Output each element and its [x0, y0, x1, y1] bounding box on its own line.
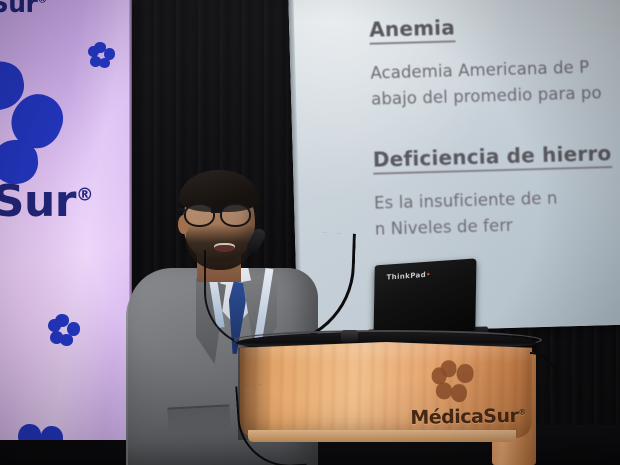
- banner-flower-logo-bottom: [16, 424, 64, 440]
- photo-scene: Anemia Academia Americana de P abajo del…: [0, 0, 620, 465]
- banner-wordmark-main: caSur®: [0, 176, 93, 227]
- lectern-flower-logo: [433, 360, 478, 405]
- slide-heading-deficiencia: Deficiencia de hierro: [373, 141, 612, 175]
- presenter-jacket-pocket: [167, 404, 230, 431]
- slide-body-iron-line1: Es la insuficiente de n: [374, 182, 620, 215]
- banner-flower-logo-small-top: [90, 42, 118, 70]
- presentation-slide: Anemia Academia Americana de P abajo del…: [369, 9, 620, 242]
- slide-heading-anemia: Anemia: [369, 15, 455, 44]
- slide-block-iron: Deficiencia de hierro Es la insuficiente…: [373, 138, 620, 241]
- thinkpad-logo: ThinkPad•: [386, 271, 431, 282]
- step-and-repeat-banner: icaSur® caSur®: [0, 0, 132, 440]
- banner-wordmark-top: icaSur®: [0, 0, 47, 18]
- lectern-branding: MédicaSur®: [403, 359, 524, 437]
- glasses-lens-right: [220, 203, 251, 227]
- microphone-mount: [341, 330, 358, 342]
- banner-flower-logo-large: [0, 62, 76, 182]
- glasses-bridge: [211, 210, 222, 213]
- lectern-brand-text: MédicaSur®: [410, 405, 526, 429]
- slide-body-anemia-line1: Academia Americana de P: [370, 53, 620, 86]
- banner-flower-logo-small-mid: [50, 314, 84, 348]
- glasses-lens-left: [184, 203, 215, 227]
- presenter-glasses: [182, 203, 258, 223]
- presenter-laptop[interactable]: ThinkPad•: [373, 258, 476, 337]
